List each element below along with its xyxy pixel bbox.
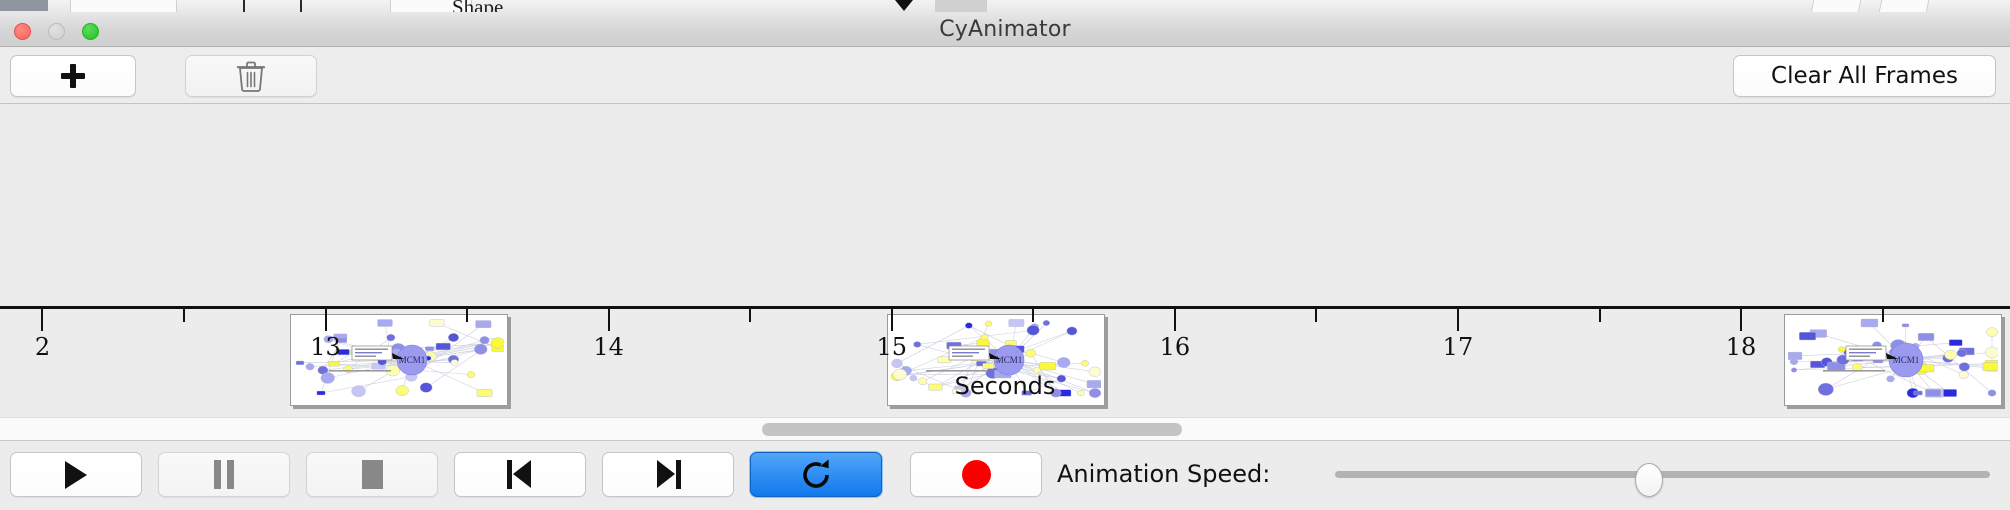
skip-to-end-icon [655, 460, 681, 489]
timeline-minor-tick [1599, 309, 1601, 322]
playback-control-bar: Animation Speed: [0, 442, 2010, 510]
timeline-minor-tick [1032, 309, 1034, 322]
timeline-scrollbar-thumb[interactable] [762, 423, 1182, 436]
timeline-scrollbar[interactable] [0, 417, 2010, 441]
background-window-cell [1811, 0, 1862, 12]
timeline-tick-label: 16 [1160, 333, 1191, 361]
background-window-caret-icon [895, 0, 913, 11]
svg-text:MCM1: MCM1 [1893, 355, 1920, 365]
timeline-minor-tick [749, 309, 751, 322]
skip-to-start-icon [507, 460, 533, 489]
timeline-minor-tick [1315, 309, 1317, 322]
timeline-tick-label: 14 [593, 333, 624, 361]
plus-icon [61, 64, 85, 88]
timeline-tick-label: 2 [35, 333, 50, 361]
stop-button[interactable] [306, 452, 438, 497]
pause-icon [213, 460, 235, 489]
background-window-cell [70, 0, 177, 12]
play-icon [65, 461, 87, 489]
timeline-major-tick [1174, 309, 1176, 331]
title-bar[interactable]: CyAnimator [0, 12, 2010, 47]
animation-speed-label: Animation Speed: [1057, 452, 1270, 497]
timeline-major-tick [41, 309, 43, 331]
delete-frame-button[interactable] [185, 55, 317, 97]
timeline-tick-label: 15 [876, 333, 907, 361]
play-button[interactable] [10, 452, 142, 497]
timeline-major-tick [1740, 309, 1742, 331]
add-frame-button[interactable] [10, 55, 136, 97]
slider-thumb[interactable] [1635, 463, 1663, 497]
clear-all-frames-button[interactable]: Clear All Frames [1733, 55, 1996, 97]
loop-button[interactable] [750, 452, 882, 497]
animation-speed-slider[interactable] [1335, 452, 1990, 497]
timeline-panel[interactable]: MCM1 MCM1 MCM1 2131415161718 Seconds [0, 104, 2010, 417]
timeline-minor-tick [1882, 309, 1884, 322]
background-window-cell [935, 0, 987, 12]
background-window-tab [0, 0, 48, 11]
background-window-cell [1879, 0, 1930, 12]
stop-icon [362, 460, 383, 489]
timeline-axis-title: Seconds [0, 372, 2010, 400]
timeline-minor-tick [183, 309, 185, 322]
timeline-major-tick [1457, 309, 1459, 331]
record-icon [962, 460, 991, 489]
background-window-tick [243, 0, 245, 12]
toolbar: Clear All Frames [0, 47, 2010, 104]
timeline-tick-label: 18 [1726, 333, 1757, 361]
background-window-tick [300, 0, 302, 12]
last-frame-button[interactable] [602, 452, 734, 497]
trash-icon [236, 60, 266, 92]
timeline-tick-label: 13 [310, 333, 341, 361]
record-button[interactable] [910, 452, 1042, 497]
timeline-tick-label: 17 [1443, 333, 1474, 361]
loop-icon [799, 458, 833, 492]
timeline-axis-line [0, 306, 2010, 309]
timeline-minor-tick [466, 309, 468, 322]
window-title: CyAnimator [0, 12, 2010, 47]
cyanimator-window: Shape CyAnimator Clear All Frames [0, 0, 2010, 510]
pause-button[interactable] [158, 452, 290, 497]
first-frame-button[interactable] [454, 452, 586, 497]
timeline-major-tick [325, 309, 327, 331]
svg-text:MCM1: MCM1 [399, 355, 426, 365]
svg-text:MCM1: MCM1 [996, 355, 1023, 365]
timeline-major-tick [891, 309, 893, 331]
timeline-major-tick [608, 309, 610, 331]
